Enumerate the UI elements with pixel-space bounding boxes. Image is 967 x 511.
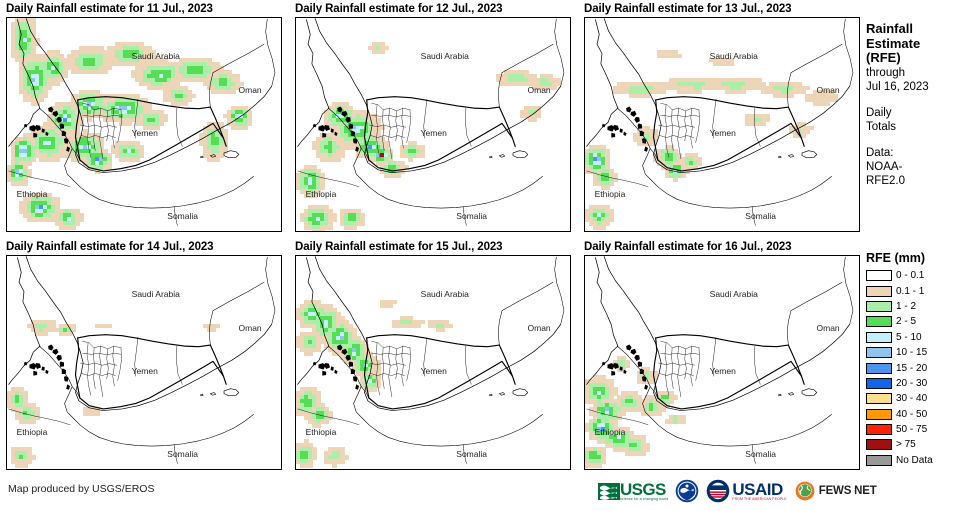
- country-boundaries: [296, 18, 570, 231]
- legend-swatch: [866, 332, 892, 343]
- legend: RFE (mm) 0 - 0.10.1 - 11 - 22 - 55 - 101…: [866, 251, 967, 468]
- legend-label: No Data: [896, 455, 933, 466]
- usgs-logo-tagline: science for a changing world: [620, 497, 668, 501]
- usaid-logo-text: USAID: [732, 482, 786, 497]
- legend-swatch: [866, 301, 892, 312]
- map-credit: Map produced by USGS/EROS: [8, 483, 154, 495]
- legend-item: 50 - 75: [866, 422, 967, 437]
- legend-item: 20 - 30: [866, 376, 967, 391]
- country-boundaries: [296, 256, 570, 469]
- legend-item: 1 - 2: [866, 299, 967, 314]
- legend-item: 15 - 20: [866, 360, 967, 375]
- usgs-logo[interactable]: USGS science for a changing world: [598, 478, 668, 504]
- map-label-somalia: Somalia: [456, 211, 487, 221]
- info-title-line2: Estimate: [866, 37, 967, 52]
- map-frame[interactable]: Saudi ArabiaOmanYemenEthiopiaSomalia: [295, 17, 571, 232]
- country-boundaries: [585, 256, 859, 469]
- legend-item: 30 - 40: [866, 391, 967, 406]
- legend-label: 20 - 30: [896, 378, 927, 389]
- map-label-ethiopia: Ethiopia: [17, 189, 48, 199]
- usaid-logo-tagline: FROM THE AMERICAN PEOPLE: [732, 497, 786, 501]
- map-label-somalia: Somalia: [745, 449, 776, 459]
- legend-swatch: [866, 393, 892, 404]
- map-panel-title: Daily Rainfall estimate for 16 Jul., 202…: [584, 240, 860, 255]
- legend-swatch: [866, 286, 892, 297]
- legend-label: 0 - 0.1: [896, 270, 924, 281]
- legend-swatch: [866, 455, 892, 466]
- info-daily: Daily: [866, 106, 967, 120]
- usaid-seal-icon: [706, 479, 730, 503]
- map-label-yemen: Yemen: [132, 366, 158, 376]
- map-label-saudi-arabia: Saudi Arabia: [710, 51, 758, 61]
- rfe-map-page: Daily Rainfall estimate for 11 Jul., 202…: [0, 0, 967, 511]
- legend-swatch: [866, 378, 892, 389]
- map-label-ethiopia: Ethiopia: [306, 427, 337, 437]
- map-panel-5: Daily Rainfall estimate for 15 Jul., 202…: [295, 240, 571, 470]
- legend-item: 0.1 - 1: [866, 283, 967, 298]
- map-frame[interactable]: Saudi ArabiaOmanYemenEthiopiaSomalia: [584, 17, 860, 232]
- legend-label: 50 - 75: [896, 424, 927, 435]
- map-label-yemen: Yemen: [710, 128, 736, 138]
- map-panel-2: Daily Rainfall estimate for 12 Jul., 202…: [295, 2, 571, 232]
- legend-label: > 75: [896, 439, 916, 450]
- legend-swatch: [866, 409, 892, 420]
- map-label-oman: Oman: [239, 85, 262, 95]
- usaid-logo[interactable]: USAID FROM THE AMERICAN PEOPLE: [706, 478, 786, 504]
- noaa-logo[interactable]: [675, 478, 699, 504]
- logo-strip: USGS science for a changing world: [598, 477, 877, 505]
- info-data-source-1: NOAA-: [866, 160, 967, 174]
- info-spacer: [866, 134, 967, 146]
- map-label-somalia: Somalia: [167, 449, 198, 459]
- country-boundaries: [585, 18, 859, 231]
- legend-item: 40 - 50: [866, 407, 967, 422]
- map-panel-1: Daily Rainfall estimate for 11 Jul., 202…: [6, 2, 282, 232]
- legend-label: 0.1 - 1: [896, 286, 924, 297]
- map-frame[interactable]: Saudi ArabiaOmanYemenEthiopiaSomalia: [295, 255, 571, 470]
- legend-item: 0 - 0.1: [866, 268, 967, 283]
- info-column: Rainfall Estimate (RFE) through Jul 16, …: [866, 22, 967, 188]
- legend-item: 2 - 5: [866, 314, 967, 329]
- country-boundaries: [7, 18, 281, 231]
- map-label-yemen: Yemen: [421, 366, 447, 376]
- usgs-wave-icon: [598, 483, 620, 500]
- legend-item: 10 - 15: [866, 345, 967, 360]
- map-panel-3: Daily Rainfall estimate for 13 Jul., 202…: [584, 2, 860, 232]
- map-panel-title: Daily Rainfall estimate for 13 Jul., 202…: [584, 2, 860, 17]
- legend-label: 1 - 2: [896, 301, 916, 312]
- fews-net-logo-text: FEWS NET: [819, 485, 877, 497]
- map-label-saudi-arabia: Saudi Arabia: [132, 289, 180, 299]
- map-label-yemen: Yemen: [421, 128, 447, 138]
- map-label-ethiopia: Ethiopia: [17, 427, 48, 437]
- legend-swatch: [866, 347, 892, 358]
- legend-item: > 75: [866, 437, 967, 452]
- map-label-somalia: Somalia: [167, 211, 198, 221]
- map-frame[interactable]: Saudi ArabiaOmanYemenEthiopiaSomalia: [6, 255, 282, 470]
- legend-item: 5 - 10: [866, 330, 967, 345]
- map-label-saudi-arabia: Saudi Arabia: [710, 289, 758, 299]
- map-label-oman: Oman: [528, 323, 551, 333]
- map-label-oman: Oman: [817, 85, 840, 95]
- legend-label: 30 - 40: [896, 393, 927, 404]
- legend-title: RFE (mm): [866, 251, 967, 265]
- map-panel-4: Daily Rainfall estimate for 14 Jul., 202…: [6, 240, 282, 470]
- legend-label: 2 - 5: [896, 316, 916, 327]
- legend-swatch: [866, 363, 892, 374]
- info-data-label: Data:: [866, 146, 967, 160]
- map-label-ethiopia: Ethiopia: [306, 189, 337, 199]
- map-label-oman: Oman: [239, 323, 262, 333]
- map-panel-title: Daily Rainfall estimate for 11 Jul., 202…: [6, 2, 282, 17]
- legend-swatch: [866, 316, 892, 327]
- map-label-saudi-arabia: Saudi Arabia: [421, 289, 469, 299]
- legend-label: 5 - 10: [896, 332, 922, 343]
- map-panel-6: Daily Rainfall estimate for 16 Jul., 202…: [584, 240, 860, 470]
- map-panel-title: Daily Rainfall estimate for 12 Jul., 202…: [295, 2, 571, 17]
- map-label-oman: Oman: [528, 85, 551, 95]
- map-frame[interactable]: Saudi ArabiaOmanYemenEthiopiaSomalia: [584, 255, 860, 470]
- fews-globe-icon: [794, 480, 816, 502]
- info-title-line1: Rainfall: [866, 22, 967, 37]
- map-label-yemen: Yemen: [710, 366, 736, 376]
- map-panel-title: Daily Rainfall estimate for 15 Jul., 202…: [295, 240, 571, 255]
- noaa-seal-icon: [675, 479, 699, 503]
- legend-rows: 0 - 0.10.1 - 11 - 22 - 55 - 1010 - 1515 …: [866, 268, 967, 468]
- country-boundaries: [7, 256, 281, 469]
- map-label-ethiopia: Ethiopia: [595, 427, 626, 437]
- map-label-ethiopia: Ethiopia: [595, 189, 626, 199]
- info-data-source-2: RFE2.0: [866, 174, 967, 188]
- map-label-somalia: Somalia: [456, 449, 487, 459]
- legend-label: 40 - 50: [896, 409, 927, 420]
- legend-swatch: [866, 270, 892, 281]
- info-totals: Totals: [866, 120, 967, 134]
- info-spacer: [866, 94, 967, 106]
- map-panel-title: Daily Rainfall estimate for 14 Jul., 202…: [6, 240, 282, 255]
- info-title-line3: (RFE): [866, 51, 967, 66]
- map-label-oman: Oman: [817, 323, 840, 333]
- map-label-saudi-arabia: Saudi Arabia: [421, 51, 469, 61]
- legend-item: No Data: [866, 453, 967, 468]
- map-frame[interactable]: Saudi ArabiaOmanYemenEthiopiaSomalia: [6, 17, 282, 232]
- usgs-logo-text: USGS: [620, 482, 668, 497]
- legend-swatch: [866, 439, 892, 450]
- map-label-saudi-arabia: Saudi Arabia: [132, 51, 180, 61]
- fews-net-logo[interactable]: FEWS NET: [794, 478, 877, 504]
- legend-swatch: [866, 424, 892, 435]
- info-through-date: Jul 16, 2023: [866, 80, 967, 94]
- map-label-somalia: Somalia: [745, 211, 776, 221]
- map-label-yemen: Yemen: [132, 128, 158, 138]
- legend-label: 15 - 20: [896, 363, 927, 374]
- legend-label: 10 - 15: [896, 347, 927, 358]
- info-through: through: [866, 66, 967, 80]
